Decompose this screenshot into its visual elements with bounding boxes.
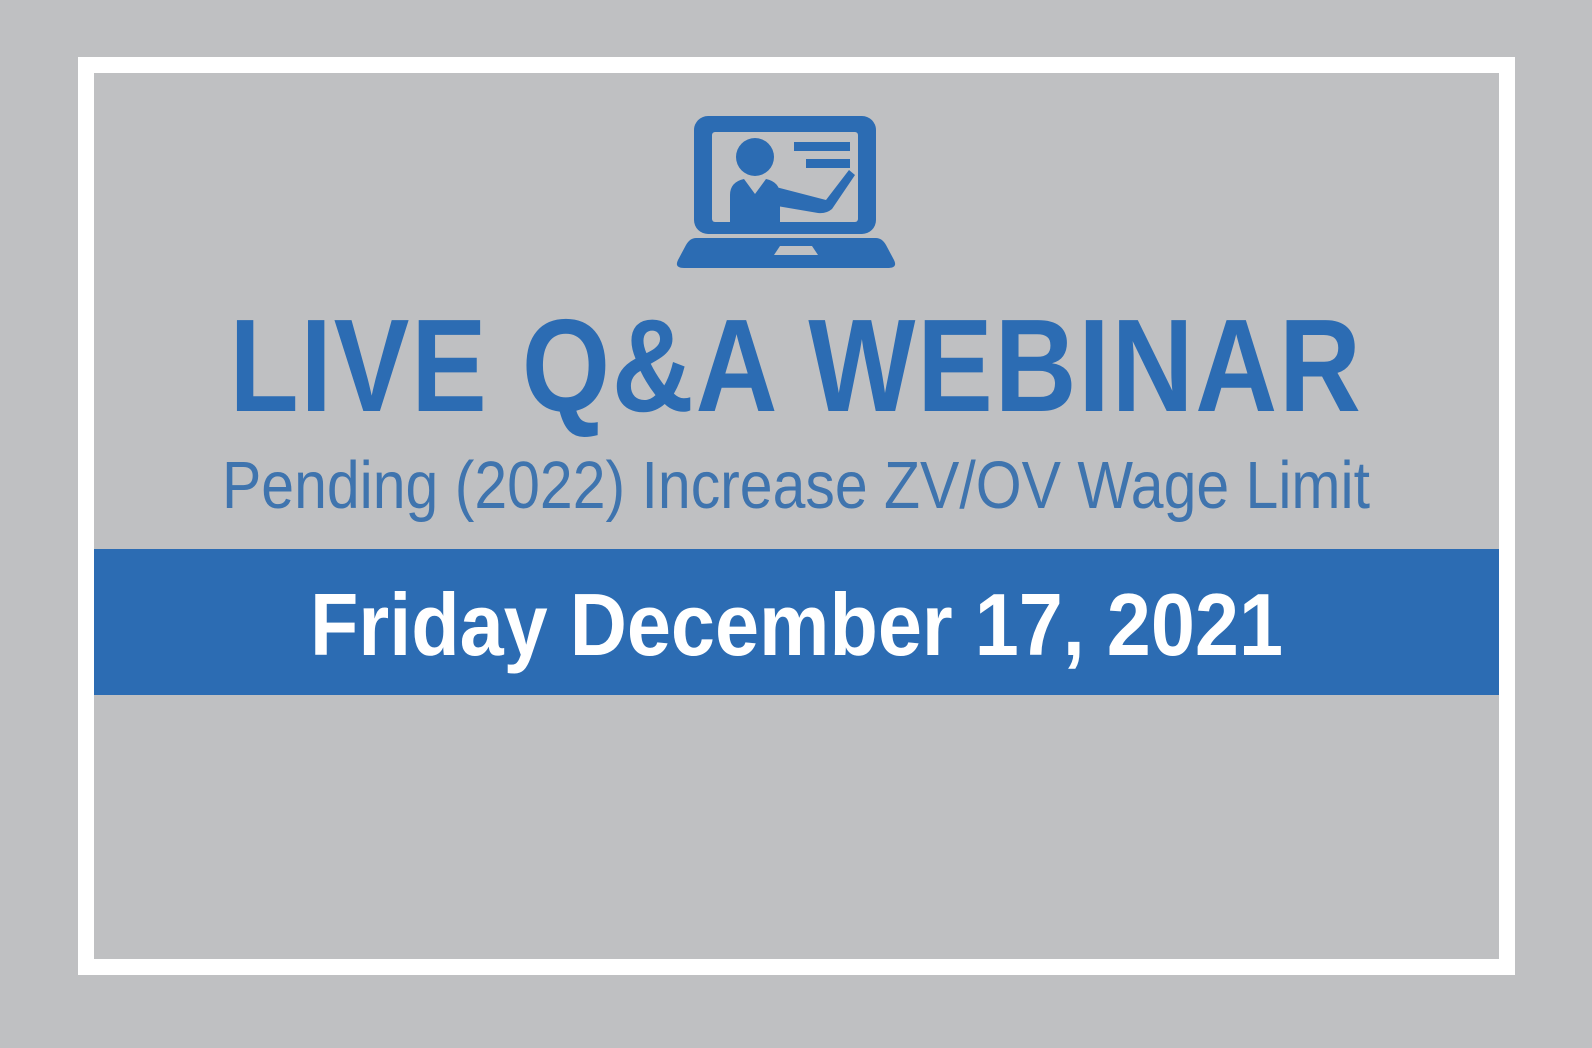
event-date-band: Friday December 17, 2021 — [94, 549, 1499, 695]
page-title: LIVE Q&A WEBINAR — [111, 300, 1480, 432]
frame-border-top — [78, 57, 1515, 73]
webinar-announcement-poster: LIVE Q&A WEBINAR Pending (2022) Increase… — [0, 0, 1592, 1048]
frame-border-bottom — [78, 959, 1515, 975]
webinar-laptop-icon — [0, 112, 1592, 272]
event-date-text: Friday December 17, 2021 — [164, 581, 1429, 669]
page-subtitle: Pending (2022) Increase ZV/OV Wage Limit — [96, 452, 1497, 519]
